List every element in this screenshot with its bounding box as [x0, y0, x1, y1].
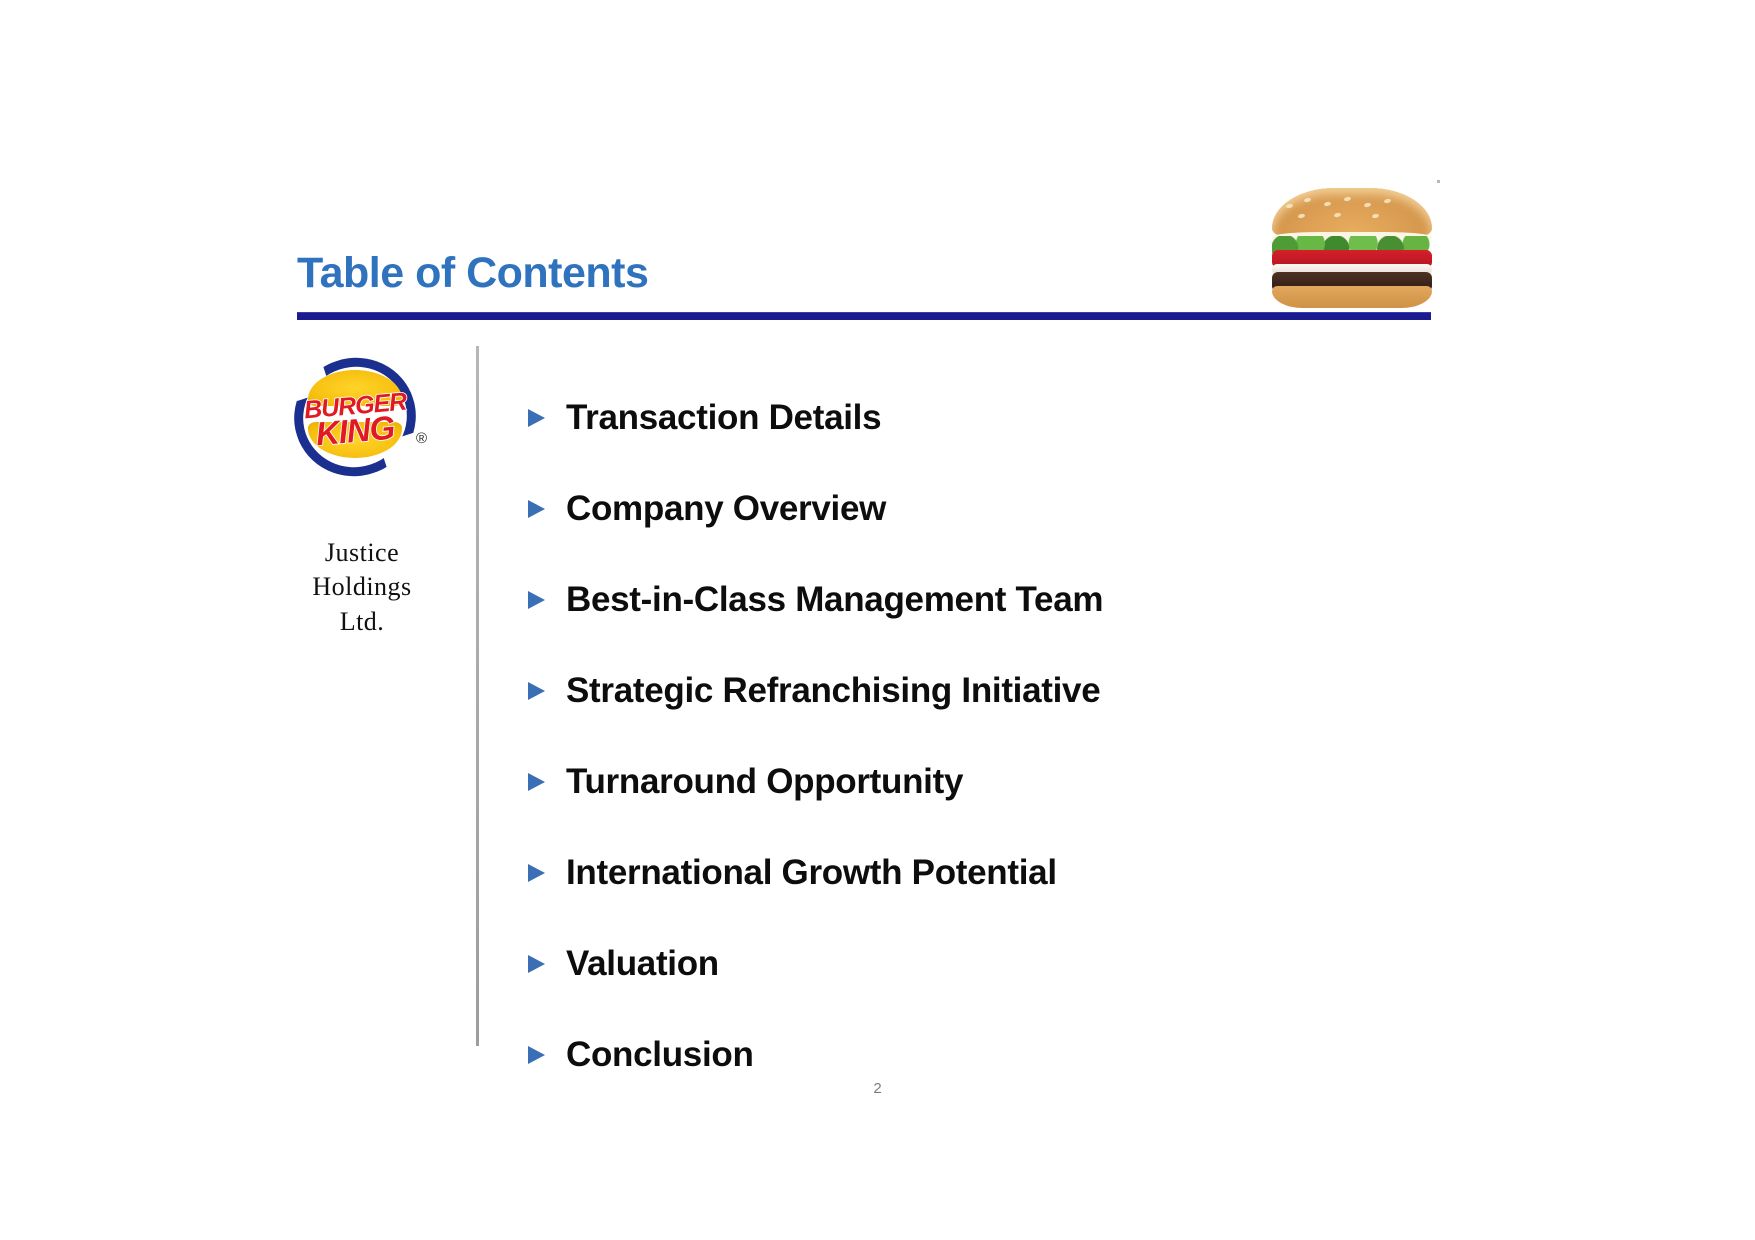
triangle-right-icon: [524, 497, 566, 521]
page-title: Table of Contents: [297, 252, 648, 295]
toc-item-turnaround-opportunity[interactable]: Turnaround Opportunity: [524, 736, 1524, 827]
toc-item-transaction-details[interactable]: Transaction Details: [524, 372, 1524, 463]
justice-line-3: Ltd.: [272, 605, 452, 639]
logo-word-king: KING: [303, 410, 407, 452]
slide-table-of-contents: Table of Contents BURGER KING ®: [0, 0, 1755, 1240]
triangle-right-icon: [524, 770, 566, 794]
toc-item-international-growth-potential[interactable]: International Growth Potential: [524, 827, 1524, 918]
burger-king-logo: BURGER KING ®: [292, 352, 432, 482]
toc-item-label: Best-in-Class Management Team: [566, 580, 1103, 620]
bun-bottom-shape: [1272, 286, 1432, 308]
triangle-right-icon: [524, 1043, 566, 1067]
toc-item-label: Turnaround Opportunity: [566, 762, 963, 802]
registered-trademark-icon: ®: [416, 430, 427, 447]
toc-item-label: International Growth Potential: [566, 853, 1057, 893]
bun-top-shape: [1272, 188, 1432, 236]
toc-item-label: Company Overview: [566, 489, 886, 529]
triangle-right-icon: [524, 588, 566, 612]
toc-item-strategic-refranchising-initiative[interactable]: Strategic Refranchising Initiative: [524, 645, 1524, 736]
toc-item-label: Strategic Refranchising Initiative: [566, 671, 1100, 711]
toc-item-valuation[interactable]: Valuation: [524, 918, 1524, 1009]
vertical-divider: [476, 346, 479, 1046]
triangle-right-icon: [524, 406, 566, 430]
toc-item-label: Conclusion: [566, 1035, 754, 1075]
photo-speck: [1437, 180, 1440, 183]
page-number: 2: [0, 1080, 1755, 1097]
whopper-burger-image: [1272, 188, 1432, 293]
toc-item-best-in-class-management-team[interactable]: Best-in-Class Management Team: [524, 554, 1524, 645]
toc-item-label: Valuation: [566, 944, 719, 984]
toc-item-company-overview[interactable]: Company Overview: [524, 463, 1524, 554]
triangle-right-icon: [524, 679, 566, 703]
justice-line-1: Justice: [272, 536, 452, 570]
justice-holdings-wordmark: Justice Holdings Ltd.: [272, 536, 452, 639]
triangle-right-icon: [524, 952, 566, 976]
table-of-contents-list: Transaction Details Company Overview Bes…: [524, 372, 1524, 1100]
header-divider-rule: [297, 312, 1431, 320]
triangle-right-icon: [524, 861, 566, 885]
justice-line-2: Holdings: [272, 570, 452, 604]
toc-item-label: Transaction Details: [566, 398, 881, 438]
